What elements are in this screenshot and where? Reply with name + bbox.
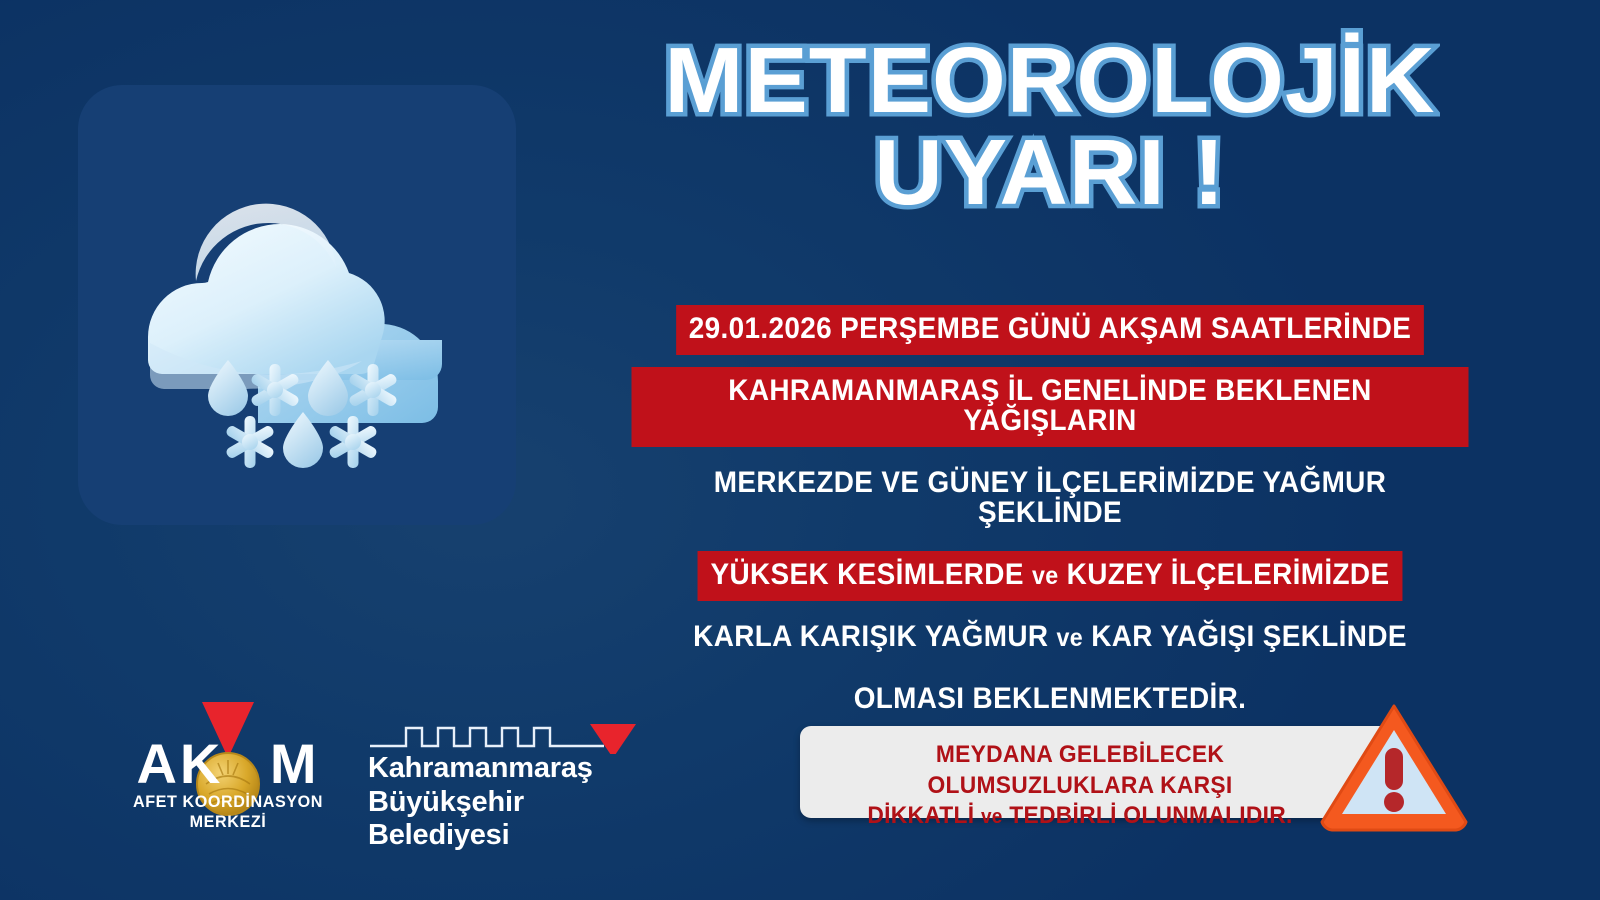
akom-letters-right: M (270, 732, 320, 795)
warning-line: MERKEZDE VE GÜNEY İLÇELERİMİZDE YAĞMUR Ş… (632, 459, 1469, 539)
belediye-logo: Kahramanmaraş Büyükşehir Belediyesi (368, 706, 636, 824)
advisory-callout-text: MEYDANA GELEBİLECEK OLUMSUZLUKLARA KARŞI… (829, 740, 1331, 832)
warning-line-text: OLMASI BEKLENMEKTEDİR. (841, 675, 1260, 725)
snowflake-icon (328, 416, 379, 468)
warning-line-text: MERKEZDE VE GÜNEY İLÇELERİMİZDE YAĞMUR Ş… (632, 459, 1469, 539)
precip-row-2 (225, 412, 379, 468)
advisory-callout-box: MEYDANA GELEBİLECEK OLUMSUZLUKLARA KARŞI… (800, 726, 1392, 818)
snowflake-icon (225, 416, 276, 468)
warning-line-text: KAHRAMANMARAŞ İL GENELİNDE BEKLENEN YAĞI… (632, 367, 1469, 447)
warning-line: 29.01.2026 PERŞEMBE GÜNÜ AKŞAM SAATLERİN… (632, 305, 1469, 355)
warning-line-text: 29.01.2026 PERŞEMBE GÜNÜ AKŞAM SAATLERİN… (676, 305, 1425, 355)
warning-line: YÜKSEK KESİMLERDE ve KUZEY İLÇELERİMİZDE (632, 551, 1469, 601)
warning-line-text: YÜKSEK KESİMLERDE ve KUZEY İLÇELERİMİZDE (698, 551, 1403, 601)
meteorological-warning-poster: METEOROLOJİK UYARI ! 29.01.2026 PERŞEMBE… (0, 0, 1600, 900)
weather-icon-panel (78, 85, 516, 525)
page-title: METEOROLOJİK UYARI ! (591, 38, 1509, 215)
belediye-line-1: Kahramanmaraş (368, 752, 598, 785)
ribbon-triangle (590, 724, 636, 754)
akom-letters-left: AK (136, 732, 223, 795)
title-line-2: UYARI ! (591, 130, 1509, 216)
warning-line: KAHRAMANMARAŞ İL GENELİNDE BEKLENEN YAĞI… (632, 367, 1469, 447)
akom-wordmark: AKOM (108, 736, 348, 792)
cloud-front-lobe (148, 204, 385, 389)
cloud-rain-snow-icon (78, 85, 516, 525)
title-line-1: METEOROLOJİK (591, 38, 1509, 124)
warning-line: KARLA KARIŞIK YAĞMUR ve KAR YAĞIŞI ŞEKLİ… (632, 613, 1469, 663)
akom-logo: AKOM AFET KOORDİNASYON MERKEZİ (108, 700, 348, 822)
akom-subtitle: AFET KOORDİNASYON MERKEZİ (114, 792, 342, 832)
advisory-line-2: DİKKATLİ ve TEDBİRLİ OLUNMALIDIR. (829, 801, 1331, 832)
warning-body: 29.01.2026 PERŞEMBE GÜNÜ AKŞAM SAATLERİN… (600, 305, 1500, 737)
warning-triangle-icon (1318, 700, 1470, 832)
advisory-line-1: MEYDANA GELEBİLECEK OLUMSUZLUKLARA KARŞI (829, 740, 1331, 801)
castle-battlement-icon (368, 706, 636, 754)
belediye-line-2: Büyükşehir Belediyesi (368, 786, 598, 852)
warning-line-text: KARLA KARIŞIK YAĞMUR ve KAR YAĞIŞI ŞEKLİ… (680, 613, 1420, 663)
